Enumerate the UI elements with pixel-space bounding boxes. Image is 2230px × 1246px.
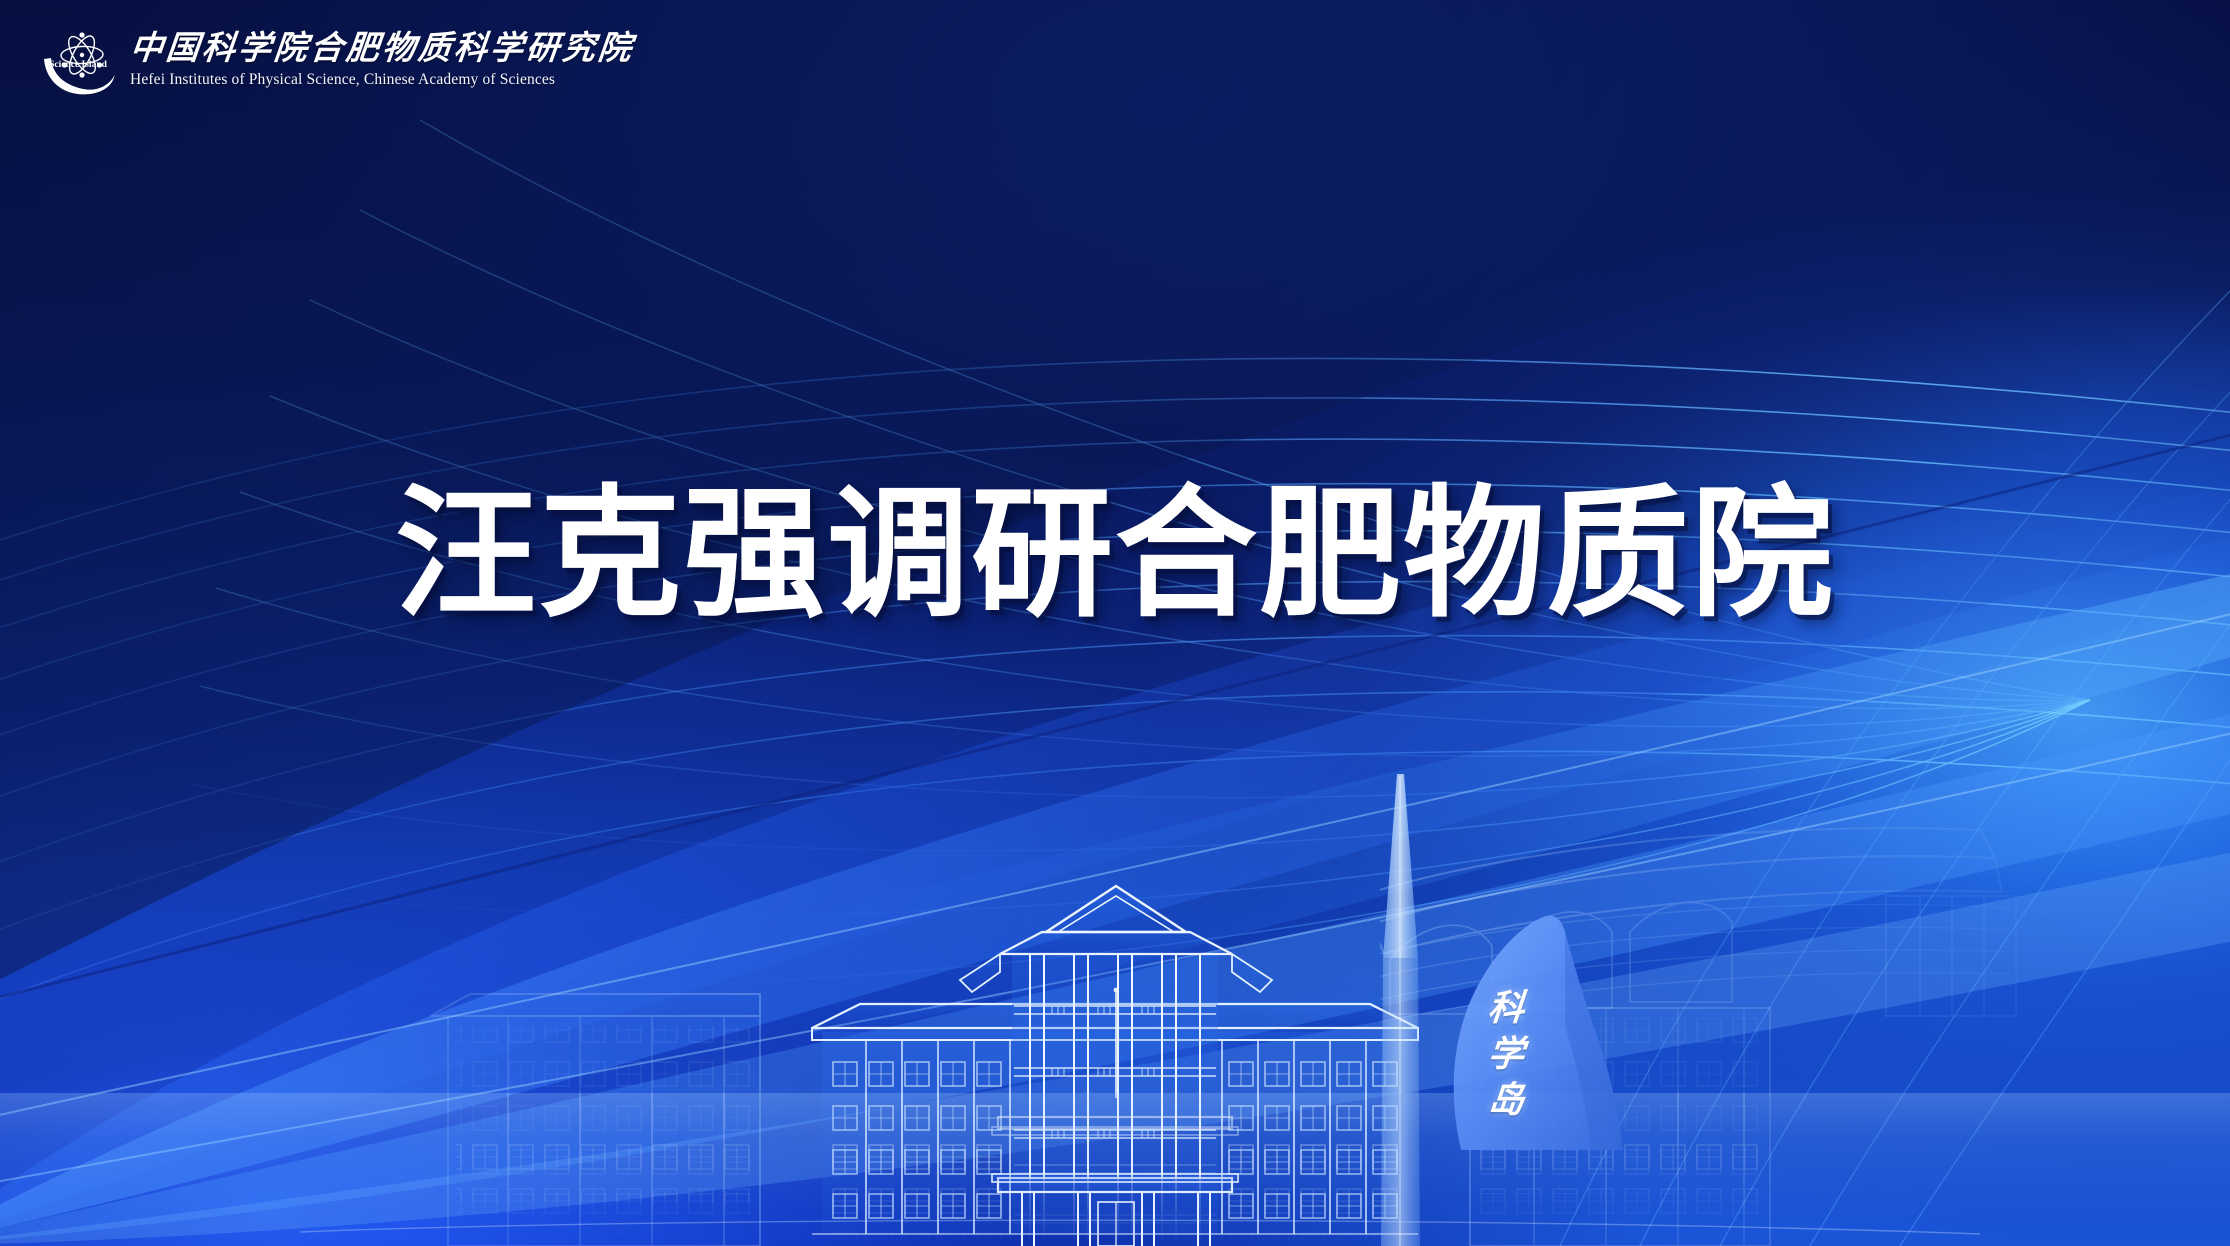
logo-chinese-name: 中国科学院合肥物质科学研究院 xyxy=(128,32,636,67)
left-side-wing-building xyxy=(430,994,760,1246)
water-reflection xyxy=(0,1093,2230,1246)
logo-wordmark: 中国科学院合肥物质科学研究院 Hefei Institutes of Physi… xyxy=(130,32,634,89)
ribbon-3 xyxy=(0,560,2230,1246)
plaza-ground-lines xyxy=(300,1220,1980,1234)
mesh-upper-right-cluster xyxy=(1560,240,2230,1246)
ribbon-4 xyxy=(0,700,2230,1246)
mesh-curves-upper xyxy=(0,358,2230,1022)
presentation-slide: Science Island 中国科学院合肥物质科学研究院 Hefei Inst… xyxy=(0,0,2230,1246)
stone-shadow-edge xyxy=(1565,932,1623,1150)
background-stadium-structure xyxy=(1300,828,2016,1042)
institute-logo: Science Island 中国科学院合肥物质科学研究院 Hefei Inst… xyxy=(40,22,634,100)
stone-inscription: 科 学 岛 xyxy=(1478,985,1534,1123)
architecture-illustration xyxy=(0,746,2230,1246)
science-island-badge-text: Science Island xyxy=(49,60,108,70)
main-academic-building xyxy=(812,886,1418,1246)
memorial-obelisk xyxy=(1381,774,1420,1246)
highlight-strokes xyxy=(0,600,2230,1192)
science-island-stone xyxy=(1395,820,1725,1150)
building-reflection xyxy=(0,1093,2230,1246)
science-island-atom-emblem: Science Island xyxy=(40,25,116,97)
logo-english-name: Hefei Institutes of Physical Science, Ch… xyxy=(130,71,634,90)
inscription-char-1: 科 xyxy=(1476,985,1536,1031)
inscription-char-2: 学 xyxy=(1476,1031,1536,1077)
inscription-char-3: 岛 xyxy=(1476,1077,1536,1123)
ribbon-5 xyxy=(0,840,2230,1246)
slide-title: 汪克强调研合肥物质院 xyxy=(0,478,2230,631)
